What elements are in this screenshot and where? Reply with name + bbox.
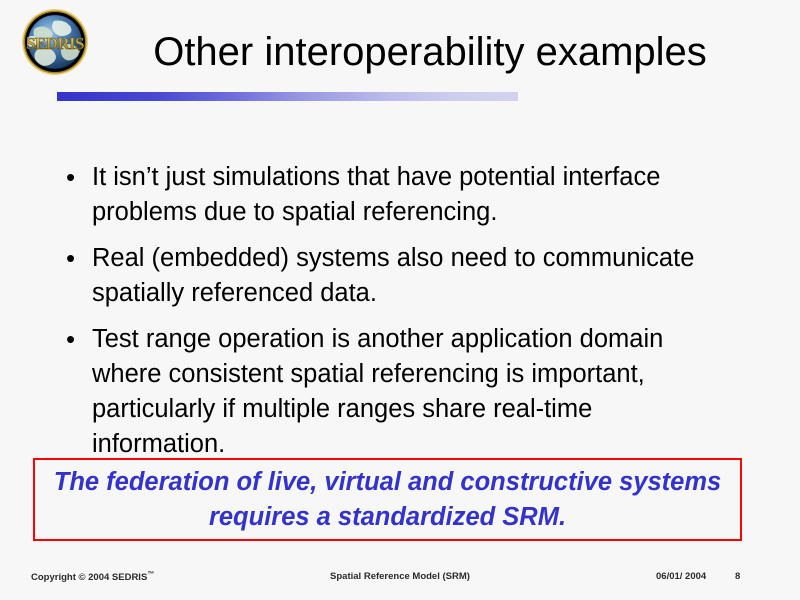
list-item: • It isn’t just simulations that have po… (62, 160, 752, 230)
logo-tm-icon: ™ (76, 50, 81, 56)
page-title: Other interoperability examples (100, 28, 760, 76)
bullet-marker-icon: • (62, 160, 92, 195)
footer-date: 06/01/ 2004 (656, 571, 706, 582)
title-gradient-rule (57, 92, 518, 101)
slide-canvas: SEDRIS ™ Other interoperability examples… (0, 0, 800, 600)
list-item: • Test range operation is another applic… (62, 322, 752, 462)
callout-text: The federation of live, virtual and cons… (35, 465, 740, 535)
bullet-text: Real (embedded) systems also need to com… (92, 241, 717, 311)
footer-page-number: 8 (735, 571, 740, 582)
bullet-text: Test range operation is another applicat… (92, 322, 717, 462)
bullet-list: • It isn’t just simulations that have po… (62, 160, 752, 473)
bullet-marker-icon: • (62, 322, 92, 357)
bullet-text: It isn’t just simulations that have pote… (92, 160, 717, 230)
bullet-marker-icon: • (62, 241, 92, 276)
callout-box: The federation of live, virtual and cons… (33, 458, 742, 541)
sedris-globe-logo: SEDRIS ™ (20, 7, 90, 77)
list-item: • Real (embedded) systems also need to c… (62, 241, 752, 311)
slide-footer: Copyright © 2004 SEDRIS™ Spatial Referen… (0, 571, 800, 591)
logo-svg: SEDRIS ™ (20, 7, 90, 77)
